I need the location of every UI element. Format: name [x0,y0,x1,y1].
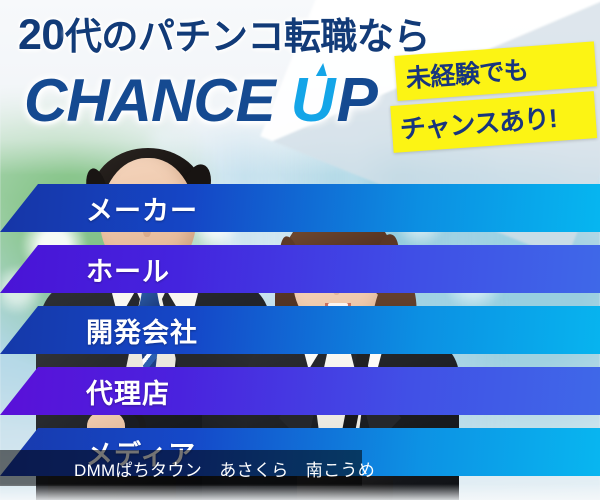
category-label: 代理店 [86,372,170,411]
category-item-hall[interactable]: ホール [0,245,600,293]
pachinko-job-banner: 20代のパチンコ転職なら CHANCE U P 未経験でも チャンスあり! メー… [0,0,600,500]
credit-bar: DMMぱちタウン あさくら 南こうめ [0,450,362,486]
category-item-agency[interactable]: 代理店 [0,367,600,415]
headline-number: 20 [18,11,65,59]
category-list: メーカー ホール 開発会社 代理店 メディア [0,184,600,489]
headline-rest: 代のパチンコ転職なら [65,16,430,57]
category-label: メーカー [86,189,198,228]
category-item-maker[interactable]: メーカー [0,184,600,232]
category-item-developer[interactable]: 開発会社 [0,306,600,354]
headline: 20代のパチンコ転職なら [18,14,438,57]
badge-line-2: チャンスあり! [390,91,597,153]
logo-u-letter: U [291,70,336,132]
up-arrow-icon [316,63,329,76]
chance-up-logo: CHANCE U P [24,70,378,132]
logo-p-letter: P [336,70,377,132]
category-label: ホール [86,250,170,289]
category-label: 開発会社 [86,311,198,350]
experience-badge: 未経験でも チャンスあり! [396,56,596,153]
logo-chance-word: CHANCE [24,71,275,131]
credit-text: DMMぱちタウン あさくら 南こうめ [74,456,375,481]
